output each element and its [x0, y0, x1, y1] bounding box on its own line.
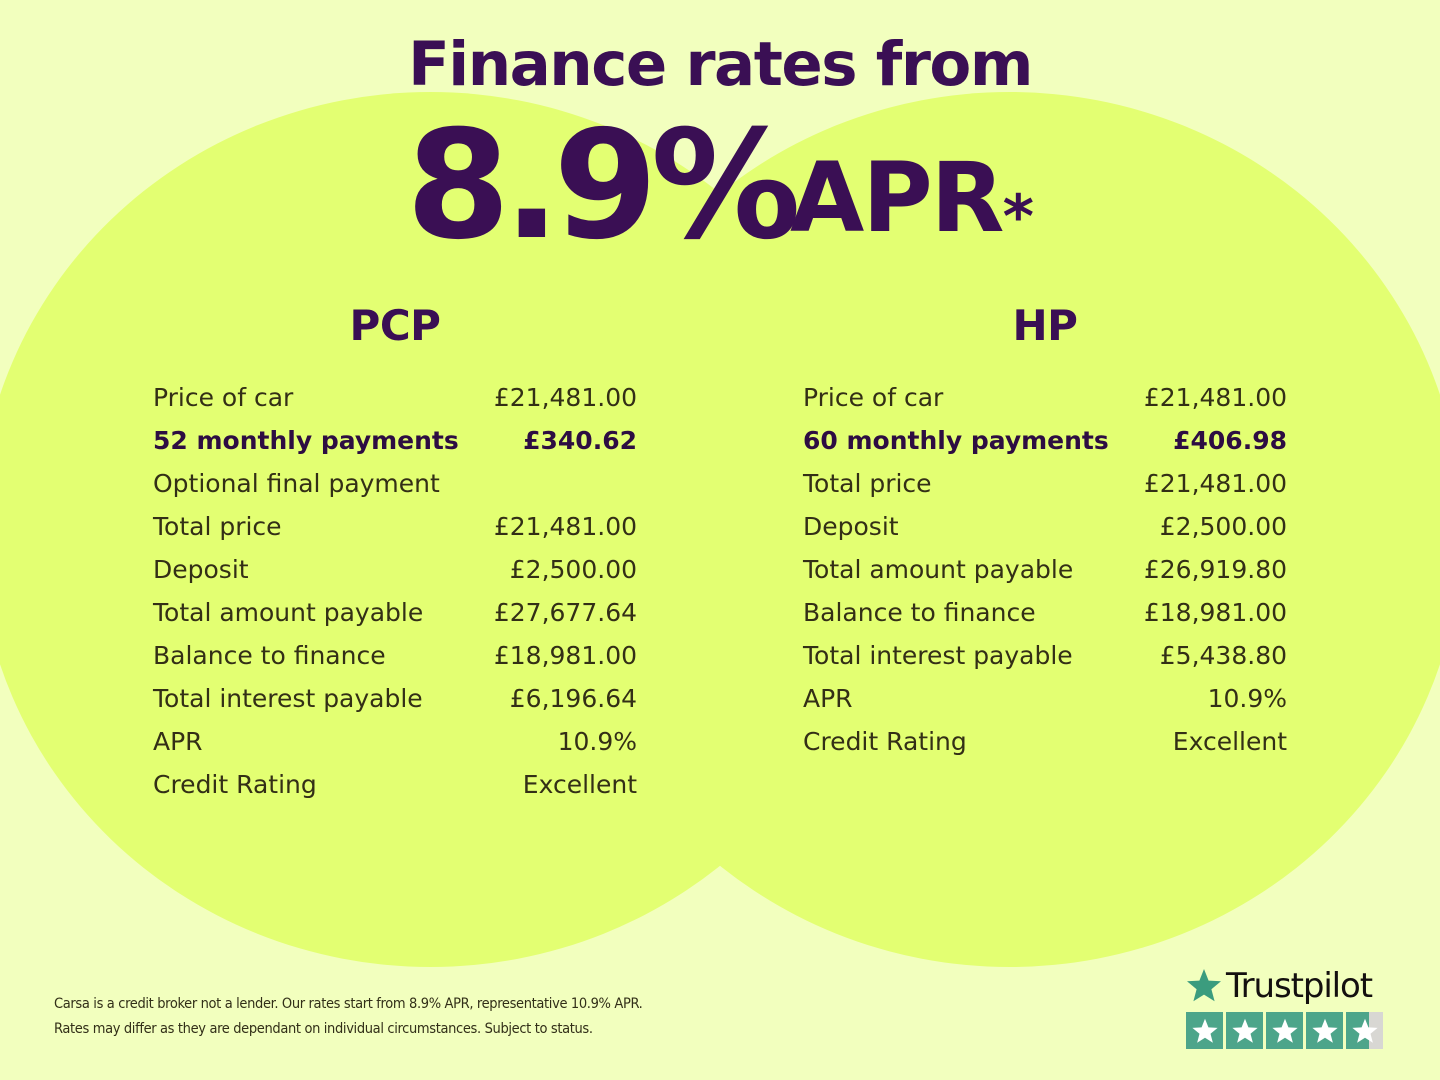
finance-row-value: Excellent: [1173, 720, 1287, 763]
hero-section: Finance rates from 8.9%APR*: [0, 0, 1440, 261]
disclaimer-line-1: Carsa is a credit broker not a lender. O…: [54, 992, 642, 1017]
hero-rate-value: 8.9%: [406, 99, 794, 273]
trustpilot-stars: [1186, 1012, 1392, 1049]
finance-row-label: Credit Rating: [153, 763, 317, 806]
finance-column-pcp: PCP Price of car£21,481.0052 monthly pay…: [145, 301, 645, 806]
finance-row-label: Total price: [153, 505, 282, 548]
finance-row-label: Balance to finance: [153, 634, 386, 677]
finance-row: Price of car£21,481.00: [795, 376, 1295, 419]
trustpilot-star-icon: [1186, 968, 1222, 1003]
hero-apr-label: APR: [790, 142, 1003, 254]
finance-row-value: £21,481.00: [1144, 462, 1287, 505]
disclaimer-text: Carsa is a credit broker not a lender. O…: [54, 992, 642, 1043]
finance-row-label: Total interest payable: [153, 677, 423, 720]
finance-row-value: £18,981.00: [494, 634, 637, 677]
finance-row-label: Deposit: [153, 548, 249, 591]
finance-row-value: Excellent: [523, 763, 637, 806]
finance-row: Total interest payable£6,196.64: [145, 677, 645, 720]
finance-row: APR10.9%: [795, 677, 1295, 720]
trustpilot-star: [1346, 1012, 1383, 1049]
column-title-hp: HP: [795, 301, 1295, 350]
hero-asterisk: *: [1003, 182, 1034, 252]
disclaimer-line-2: Rates may differ as they are dependant o…: [54, 1017, 642, 1042]
finance-row-label: Price of car: [153, 376, 293, 419]
finance-row-value: £2,500.00: [510, 548, 637, 591]
finance-columns: PCP Price of car£21,481.0052 monthly pay…: [0, 301, 1440, 806]
finance-row-value: £5,438.80: [1160, 634, 1287, 677]
trustpilot-star: [1186, 1012, 1223, 1049]
finance-row: Credit RatingExcellent: [795, 720, 1295, 763]
hero-rate-line: 8.9%APR*: [0, 111, 1440, 261]
trustpilot-star: [1306, 1012, 1343, 1049]
finance-row-label: Optional final payment: [153, 462, 440, 505]
finance-rows-pcp: Price of car£21,481.0052 monthly payment…: [145, 376, 645, 806]
finance-row: Total price£21,481.00: [145, 505, 645, 548]
finance-row-label: Total interest payable: [803, 634, 1073, 677]
finance-row-label: 60 monthly payments: [803, 419, 1109, 462]
finance-row: 52 monthly payments£340.62: [145, 419, 645, 462]
finance-row: Total price£21,481.00: [795, 462, 1295, 505]
finance-row: Balance to finance£18,981.00: [145, 634, 645, 677]
finance-row-value: £21,481.00: [494, 376, 637, 419]
finance-row-value: 10.9%: [558, 720, 637, 763]
finance-row: Deposit£2,500.00: [795, 505, 1295, 548]
finance-row: Total amount payable£27,677.64: [145, 591, 645, 634]
finance-row-label: Balance to finance: [803, 591, 1036, 634]
finance-row: Balance to finance£18,981.00: [795, 591, 1295, 634]
finance-row: APR10.9%: [145, 720, 645, 763]
finance-row-label: 52 monthly payments: [153, 419, 459, 462]
finance-row-value: 10.9%: [1208, 677, 1287, 720]
trustpilot-star: [1226, 1012, 1263, 1049]
finance-row-value: £340.62: [523, 419, 637, 462]
finance-row: Price of car£21,481.00: [145, 376, 645, 419]
finance-row-value: £21,481.00: [494, 505, 637, 548]
finance-row-label: Credit Rating: [803, 720, 967, 763]
finance-row: Optional final payment: [145, 462, 645, 505]
finance-row: Total amount payable£26,919.80: [795, 548, 1295, 591]
hero-kicker: Finance rates from: [0, 34, 1440, 95]
finance-column-hp: HP Price of car£21,481.0060 monthly paym…: [795, 301, 1295, 806]
finance-row-value: £27,677.64: [494, 591, 637, 634]
trustpilot-star: [1266, 1012, 1303, 1049]
finance-row-label: APR: [153, 720, 203, 763]
finance-row-value: £2,500.00: [1160, 505, 1287, 548]
finance-rows-hp: Price of car£21,481.0060 monthly payment…: [795, 376, 1295, 763]
finance-row: Total interest payable£5,438.80: [795, 634, 1295, 677]
finance-row-label: APR: [803, 677, 853, 720]
finance-row-label: Deposit: [803, 505, 899, 548]
finance-row-value: £6,196.64: [510, 677, 637, 720]
finance-row: Credit RatingExcellent: [145, 763, 645, 806]
finance-row: Deposit£2,500.00: [145, 548, 645, 591]
finance-rates-promo: Finance rates from 8.9%APR* PCP Price of…: [0, 0, 1440, 1080]
finance-row-value: £21,481.00: [1144, 376, 1287, 419]
finance-row-value: £26,919.80: [1144, 548, 1287, 591]
trustpilot-wordmark: Trustpilot: [1226, 969, 1372, 1003]
footer: Carsa is a credit broker not a lender. O…: [0, 950, 1440, 1080]
finance-row-value: £406.98: [1173, 419, 1287, 462]
finance-row-label: Total amount payable: [803, 548, 1073, 591]
finance-row-label: Price of car: [803, 376, 943, 419]
finance-row-label: Total price: [803, 462, 932, 505]
trustpilot-rating[interactable]: Trustpilot: [1186, 968, 1392, 1049]
column-title-pcp: PCP: [145, 301, 645, 350]
finance-row-value: £18,981.00: [1144, 591, 1287, 634]
finance-row-label: Total amount payable: [153, 591, 423, 634]
finance-row: 60 monthly payments£406.98: [795, 419, 1295, 462]
trustpilot-brand: Trustpilot: [1186, 968, 1392, 1003]
